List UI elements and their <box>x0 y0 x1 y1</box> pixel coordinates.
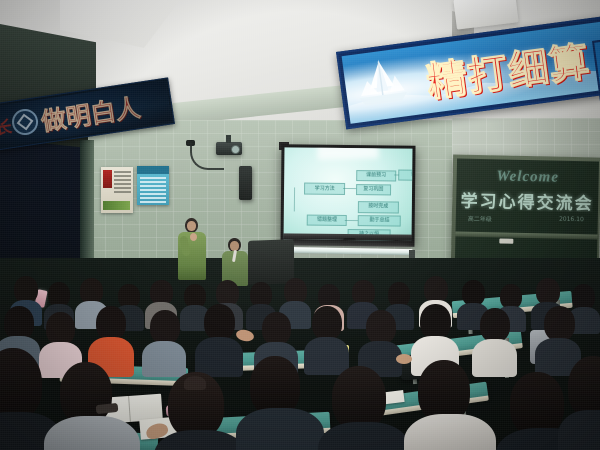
tube-cap-right <box>409 250 415 258</box>
slide-connector-3 <box>345 220 358 221</box>
student-head <box>420 304 451 339</box>
student-head <box>480 308 510 342</box>
slide-flowchart: 学习方法 课前预习 认真听讲 复习巩固 按时完成 错题整理 勤于总结 持之以恒 <box>284 147 413 240</box>
student-torso <box>304 337 349 375</box>
presenter-1-hand <box>190 233 197 241</box>
screen-surface: 学习方法 课前预习 认真听讲 复习巩固 按时完成 错题整理 勤于总结 持之以恒 <box>284 147 413 240</box>
student-head <box>96 306 126 340</box>
projection-screen: 学习方法 课前预习 认真听讲 复习巩固 按时完成 错题整理 勤于总结 持之以恒 <box>280 144 415 246</box>
poster-header-bar <box>137 166 169 174</box>
blackboard-sub-right: 2016.10 <box>559 216 584 224</box>
student-head-large <box>510 372 564 436</box>
student-head <box>424 276 448 303</box>
screen-weight-bar <box>344 238 356 241</box>
student-head-large <box>332 366 386 430</box>
presenter-1-face <box>187 221 196 231</box>
student-head <box>544 306 575 341</box>
banner-right-text: 精打细算 <box>406 26 600 112</box>
student-head-large <box>60 362 112 424</box>
presenter-standing <box>178 218 206 280</box>
projector-lens <box>231 145 240 154</box>
classroom-photo: 精打细算 细 长 做明白人 <box>0 0 600 450</box>
slide-box-3: 认真听讲 <box>398 170 412 182</box>
slide-connector-4 <box>294 188 295 212</box>
student-torso <box>142 341 186 377</box>
slide-box-5: 按时完成 <box>358 201 399 213</box>
student-head <box>312 306 342 340</box>
hair-bun <box>184 376 206 390</box>
blackboard-sub-left: 高二年级 <box>468 214 492 224</box>
student-head <box>46 312 75 345</box>
student-head-large <box>250 356 300 416</box>
notice-poster-cyan <box>137 166 169 205</box>
sailing-ship-icon <box>352 54 411 118</box>
slide-connector-1 <box>343 187 356 188</box>
slide-box-6: 错题整理 <box>307 215 348 227</box>
blackboard: Welcome 学习心得交流会 高二年级 2016.10 <box>451 154 600 265</box>
student-head <box>366 310 396 344</box>
blackboard-chalk-rail <box>455 232 597 240</box>
student-head <box>4 306 34 340</box>
presenter-seated <box>222 238 248 286</box>
slide-box-7: 勤于总结 <box>358 215 401 227</box>
poster-text-lines <box>114 171 131 193</box>
student-head <box>150 310 180 344</box>
poster-body-lines <box>140 177 166 203</box>
front-podium <box>248 239 294 285</box>
poster-green-footer <box>103 201 130 210</box>
student-torso-white <box>404 414 496 450</box>
student-head <box>204 304 235 340</box>
slide-connector-2 <box>394 174 399 175</box>
student-head <box>262 312 291 345</box>
student-head-large <box>418 360 470 422</box>
notice-poster-red <box>101 167 133 213</box>
wall-speaker-icon <box>239 166 252 200</box>
slide-box-1: 学习方法 <box>304 182 345 195</box>
blackboard-surface: Welcome 学习心得交流会 高二年级 2016.10 <box>455 159 599 262</box>
blackboard-main-text: 学习心得交流会 <box>461 188 593 213</box>
student-torso <box>195 337 243 377</box>
poster-red-block <box>103 170 112 188</box>
student-torso-large <box>236 408 324 450</box>
slide-box-4: 复习巩固 <box>356 184 391 196</box>
ceiling-projector-icon <box>216 142 242 155</box>
slide-box-2: 课前预习 <box>356 170 397 182</box>
blackboard-decorative-text: Welcome <box>465 166 589 190</box>
student-torso <box>472 339 517 377</box>
student-hand-3 <box>396 354 412 364</box>
student-head <box>14 276 38 303</box>
student-head <box>536 278 560 305</box>
blackboard-eraser-icon <box>499 238 513 243</box>
